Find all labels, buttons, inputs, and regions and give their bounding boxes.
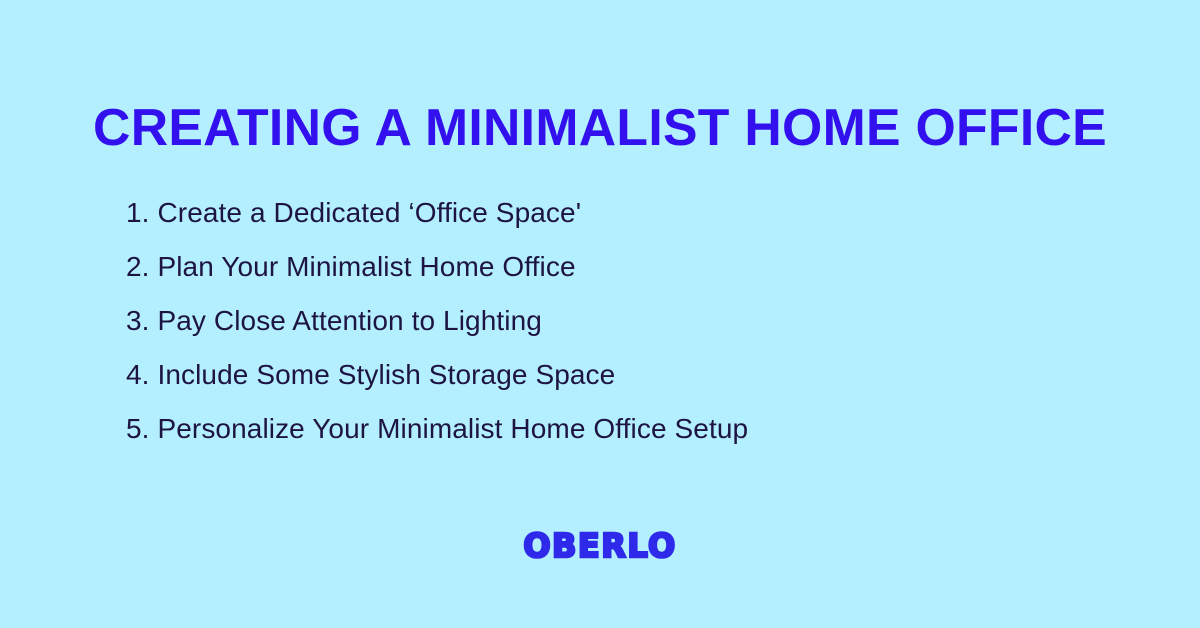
list-item-number: 2. <box>126 251 150 282</box>
page-title: CREATING A MINIMALIST HOME OFFICE <box>3 97 1197 159</box>
list-item-label: Create a Dedicated ‘Office Space' <box>157 197 581 228</box>
infographic-card: CREATING A MINIMALIST HOME OFFICE 1. Cre… <box>0 0 1200 628</box>
list-item-number: 1. <box>126 197 150 228</box>
list-item-label: Personalize Your Minimalist Home Office … <box>157 413 748 444</box>
list-item-label: Pay Close Attention to Lighting <box>157 305 541 336</box>
brand-logo: OBERLO <box>0 528 1200 564</box>
list-item-number: 5. <box>126 413 150 444</box>
list-item-number: 3. <box>126 305 150 336</box>
list-item-number: 4. <box>126 359 150 390</box>
list-item: 1. Create a Dedicated ‘Office Space' <box>126 186 1126 240</box>
list-item: 2. Plan Your Minimalist Home Office <box>126 240 1126 294</box>
list-item-label: Include Some Stylish Storage Space <box>157 359 615 390</box>
list-item: 5. Personalize Your Minimalist Home Offi… <box>126 402 1126 456</box>
brand-logo-text: OBERLO <box>523 528 676 564</box>
list-item: 4. Include Some Stylish Storage Space <box>126 348 1126 402</box>
tips-list: 1. Create a Dedicated ‘Office Space' 2. … <box>126 186 1126 456</box>
list-item: 3. Pay Close Attention to Lighting <box>126 294 1126 348</box>
list-item-label: Plan Your Minimalist Home Office <box>157 251 575 282</box>
